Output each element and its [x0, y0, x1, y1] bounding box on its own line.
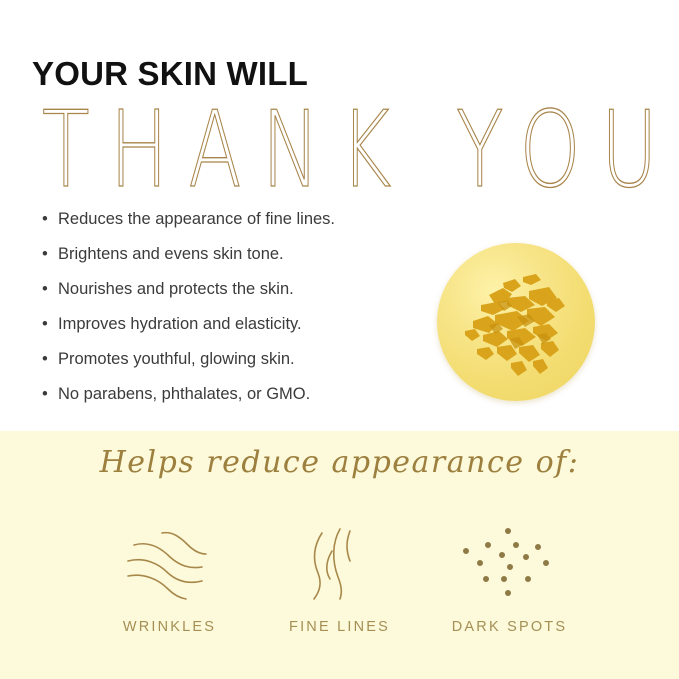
benefit-text: Improves hydration and elasticity.: [58, 315, 302, 333]
band-title: Helps reduce appearance of:: [0, 445, 679, 480]
icon-group-dark-spots: DARK SPOTS: [425, 521, 595, 635]
bullet-icon: •: [42, 281, 48, 298]
icon-group-fine-lines: FINE LINES: [255, 521, 425, 635]
benefits-list: • Reduces the appearance of fine lines. …: [42, 211, 442, 421]
benefit-text: Promotes youthful, glowing skin.: [58, 350, 295, 368]
headline-thank-you: THANK YOU: [42, 98, 678, 203]
bullet-icon: •: [42, 351, 48, 368]
bullet-icon: •: [42, 316, 48, 333]
list-item: • Nourishes and protects the skin.: [42, 281, 442, 298]
list-item: • Brightens and evens skin tone.: [42, 246, 442, 263]
bullet-icon: •: [42, 246, 48, 263]
scattered-dots-icon: [450, 521, 570, 611]
benefit-text: Reduces the appearance of fine lines.: [58, 210, 335, 228]
icon-label-wrinkles: WRINKLES: [123, 619, 216, 635]
benefit-text: Nourishes and protects the skin.: [58, 280, 294, 298]
list-item: • Improves hydration and elasticity.: [42, 316, 442, 333]
icon-label-fine-lines: FINE LINES: [289, 619, 390, 635]
icon-label-dark-spots: DARK SPOTS: [452, 619, 567, 635]
benefits-band: Helps reduce appearance of: WRINKLES: [0, 431, 679, 679]
list-item: • Promotes youthful, glowing skin.: [42, 351, 442, 368]
benefit-text: Brightens and evens skin tone.: [58, 245, 284, 263]
promo-graphic: YOUR SKIN WILL THANK YOU • Reduces the a…: [0, 0, 679, 679]
list-item: • No parabens, phthalates, or GMO.: [42, 386, 442, 403]
list-item: • Reduces the appearance of fine lines.: [42, 211, 442, 228]
wavy-horizontal-lines-icon: [110, 521, 230, 611]
bullet-icon: •: [42, 386, 48, 403]
icon-row: WRINKLES FINE LINES: [0, 521, 679, 635]
gold-flakes-icon: [437, 243, 595, 401]
gold-flake-cream-circle: [437, 243, 595, 401]
wavy-vertical-lines-icon: [280, 521, 400, 611]
headline-primary: YOUR SKIN WILL: [32, 57, 308, 90]
icon-group-wrinkles: WRINKLES: [85, 521, 255, 635]
bullet-icon: •: [42, 211, 48, 228]
benefit-text: No parabens, phthalates, or GMO.: [58, 385, 310, 403]
